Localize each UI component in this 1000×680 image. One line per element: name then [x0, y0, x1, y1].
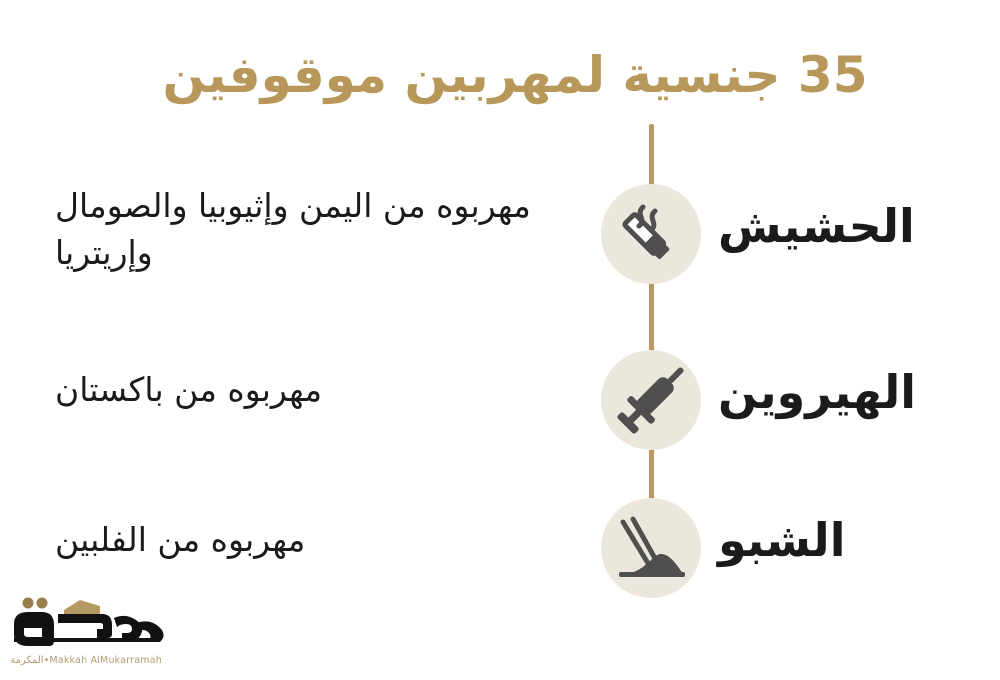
infographic-canvas: 35 جنسية لمهربين موقوفين مهربوه من اليمن…	[0, 0, 1000, 680]
item-label: الهيروين	[718, 365, 918, 419]
item-label: الحشيش	[718, 199, 918, 253]
logo-tagline-arabic: المكرمة	[10, 655, 43, 666]
list-item: مهربوه من الفلبين الشبو	[0, 495, 1000, 605]
logo-tagline-latin: Makkah AlMukarramah	[49, 655, 162, 666]
item-description: مهربوه من باكستان	[55, 367, 595, 414]
logo-tagline: Makkah AlMukarramah • المكرمة	[12, 655, 162, 666]
powder-straw-icon	[601, 498, 701, 598]
syringe-icon	[601, 350, 701, 450]
page-title: 35 جنسية لمهربين موقوفين	[0, 44, 1000, 107]
item-description: مهربوه من اليمن وإثيوبيا والصومال وإريتر…	[55, 183, 595, 277]
list-item: مهربوه من اليمن وإثيوبيا والصومال وإريتر…	[0, 185, 1000, 295]
item-description: مهربوه من الفلبين	[55, 517, 595, 564]
logo-tagline-separator: •	[44, 655, 50, 666]
item-label: الشبو	[718, 513, 918, 567]
makkah-newspaper-logo: Makkah AlMukarramah • المكرمة	[8, 594, 168, 670]
cigarette-smoke-icon	[601, 184, 701, 284]
list-item: مهربوه من باكستان الهيروين	[0, 345, 1000, 455]
